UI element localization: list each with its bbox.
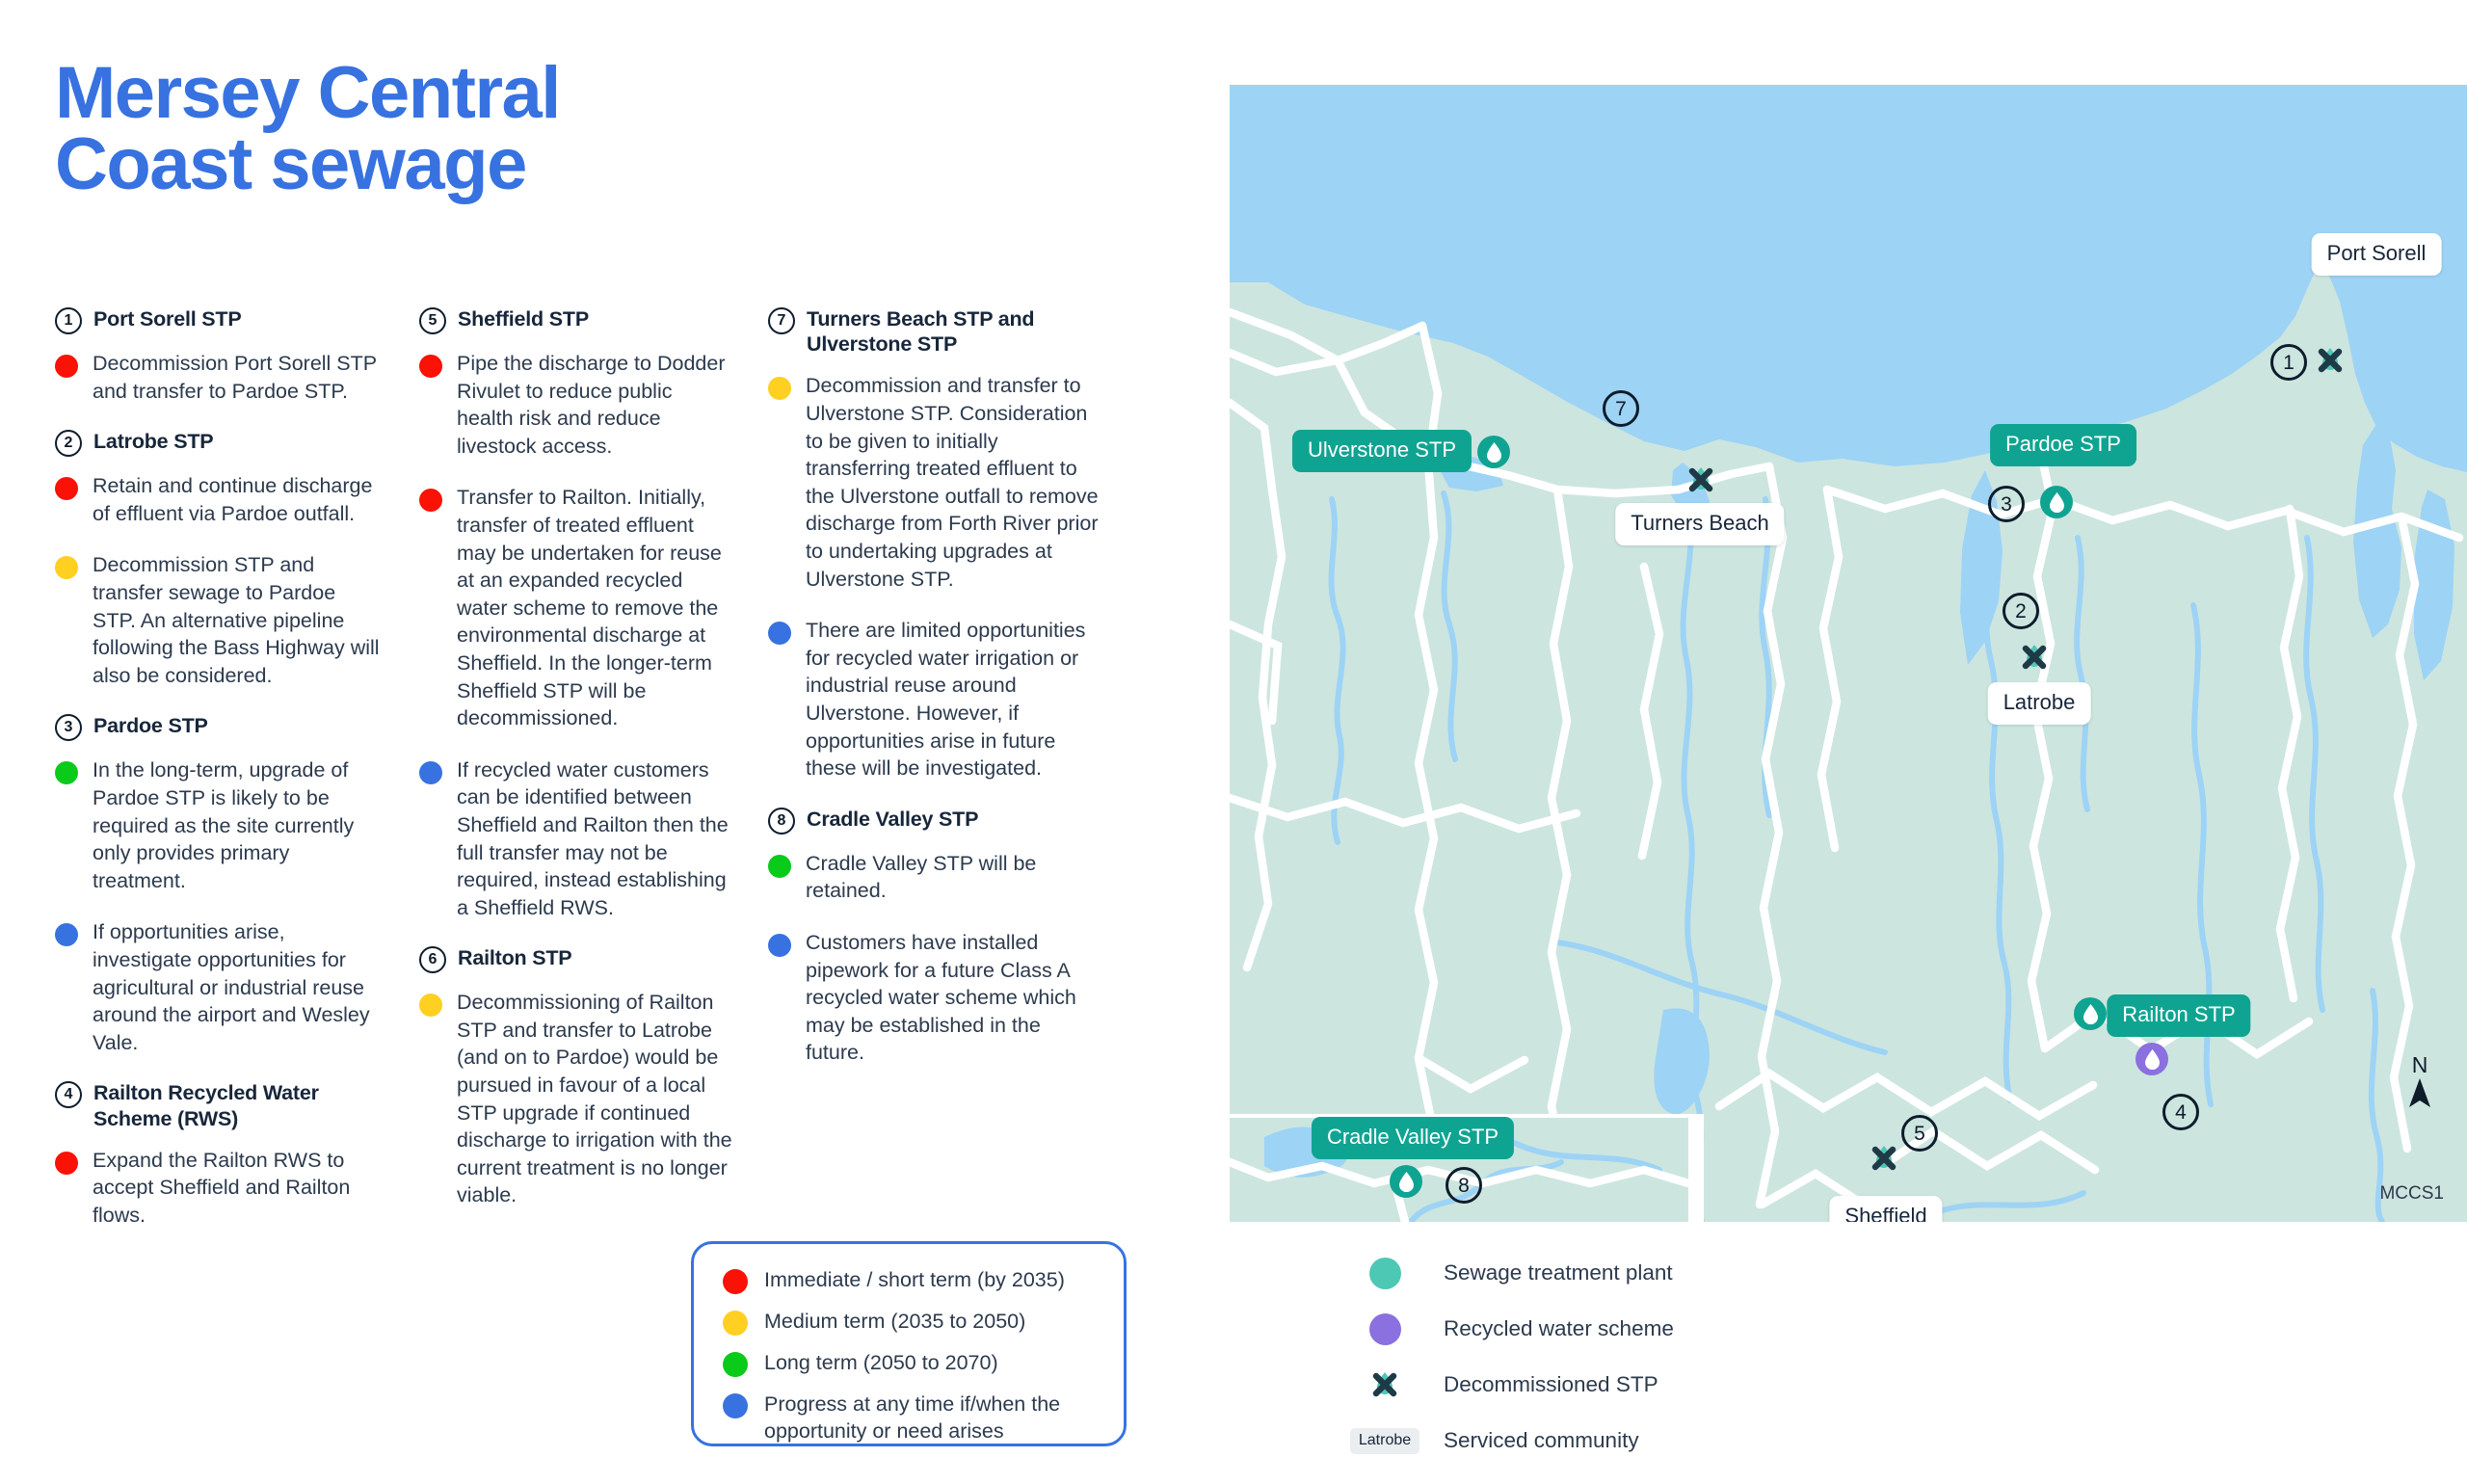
section-number-badge: 2 (55, 430, 82, 457)
recommendation-bullet: Decommission Port Sorell STP and transfe… (55, 350, 383, 405)
section-number-badge: 4 (55, 1081, 82, 1108)
map-label-railton-stp[interactable]: Railton STP (2107, 994, 2250, 1037)
timing-dot-medium (419, 994, 442, 1017)
recommendation-bullet: If recycled water customers can be ident… (419, 756, 732, 922)
timing-legend-label: Long term (2050 to 2070) (764, 1350, 998, 1377)
bullet-text: There are limited opportunities for recy… (806, 617, 1101, 782)
map-legend-row: Recycled water scheme (1363, 1301, 2037, 1357)
section-header: 6Railton STP (419, 945, 732, 973)
section-header: 8Cradle Valley STP (768, 807, 1101, 835)
decommissioned-stp-icon[interactable] (2018, 641, 2051, 674)
bullet-text: Decommission STP and transfer sewage to … (93, 551, 383, 689)
timing-legend-dot-anytime (723, 1393, 748, 1418)
timing-legend-row: Immediate / short term (by 2035) (723, 1267, 1099, 1294)
timing-legend-label: Immediate / short term (by 2035) (764, 1267, 1065, 1294)
timing-dot-anytime (768, 622, 791, 645)
section-header: 2Latrobe STP (55, 429, 383, 457)
map-label-ulverstone-stp[interactable]: Ulverstone STP (1292, 430, 1472, 472)
bullet-text: Retain and continue discharge of effluen… (93, 472, 383, 527)
section-header: 5Sheffield STP (419, 306, 732, 334)
bullet-text: Decommission and transfer to Ulverstone … (806, 372, 1101, 593)
map-legend-label: Decommissioned STP (1444, 1372, 1658, 1397)
map-number-badge-8[interactable]: 8 (1446, 1167, 1482, 1204)
map-number-badge-5[interactable]: 5 (1901, 1115, 1938, 1152)
section-title: Cradle Valley STP (807, 807, 978, 832)
section-number-badge: 6 (419, 946, 446, 973)
section-number-badge: 3 (55, 714, 82, 741)
map-legend: Sewage treatment plantRecycled water sch… (1363, 1245, 2037, 1469)
column-2: 5Sheffield STPPipe the discharge to Dodd… (419, 306, 732, 1233)
info-panel: Mersey CentralCoast sewage 1Port Sorell … (0, 0, 1224, 1484)
map-label-latrobe[interactable]: Latrobe (1988, 682, 2091, 725)
timing-legend-dot-immediate (723, 1269, 748, 1294)
bullet-text: Customers have installed pipework for a … (806, 929, 1101, 1067)
legend-recycled-water-scheme-icon (1363, 1313, 1407, 1345)
map-number-badge-2[interactable]: 2 (2003, 593, 2039, 629)
timing-dot-long (55, 761, 78, 784)
bullet-text: In the long-term, upgrade of Pardoe STP … (93, 756, 383, 894)
recommendation-section-6: 6Railton STPDecommissioning of Railton S… (419, 945, 732, 1209)
timing-dot-immediate (419, 489, 442, 512)
timing-legend: Immediate / short term (by 2035)Medium t… (691, 1241, 1127, 1446)
recommendation-section-7: 7Turners Beach STP and Ulverstone STPDec… (768, 306, 1101, 782)
section-title: Latrobe STP (93, 429, 213, 454)
timing-dot-long (768, 855, 791, 878)
decommissioned-stp-icon[interactable] (2314, 344, 2347, 377)
page-title-line-1: Mersey Central (55, 58, 787, 129)
recommendation-section-1: 1Port Sorell STPDecommission Port Sorell… (55, 306, 383, 405)
bullet-text: Decommissioning of Railton STP and trans… (457, 989, 732, 1209)
map-basemap (1230, 85, 2467, 1222)
sewage-treatment-drop-icon[interactable] (2074, 997, 2107, 1030)
page-title-line-2: Coast sewage (55, 129, 787, 200)
section-title: Port Sorell STP (93, 306, 242, 331)
legend-decommissioned-stp-icon (1363, 1368, 1407, 1401)
bullet-text: Expand the Railton RWS to accept Sheffie… (93, 1147, 383, 1230)
section-header: 4Railton Recycled Water Scheme (RWS) (55, 1080, 383, 1130)
section-header: 1Port Sorell STP (55, 306, 383, 334)
decommissioned-stp-icon[interactable] (1684, 464, 1717, 496)
map-container[interactable]: N MCCS1 Port SorellUlverstone STPTurners… (1230, 85, 2467, 1222)
timing-legend-row: Medium term (2035 to 2050) (723, 1309, 1099, 1336)
section-number-badge: 8 (768, 808, 795, 835)
timing-legend-label: Medium term (2035 to 2050) (764, 1309, 1025, 1336)
section-header: 7Turners Beach STP and Ulverstone STP (768, 306, 1101, 357)
timing-legend-row: Progress at any time if/when the opportu… (723, 1391, 1099, 1445)
section-title: Railton Recycled Water Scheme (RWS) (93, 1080, 383, 1130)
bullet-text: If recycled water customers can be ident… (457, 756, 732, 922)
section-title: Pardoe STP (93, 713, 208, 738)
map-number-badge-7[interactable]: 7 (1603, 390, 1639, 427)
bullet-text: Decommission Port Sorell STP and transfe… (93, 350, 383, 405)
section-header: 3Pardoe STP (55, 713, 383, 741)
recommendation-bullet: Pipe the discharge to Dodder Rivulet to … (419, 350, 732, 460)
section-number-badge: 1 (55, 307, 82, 334)
decommissioned-stp-icon[interactable] (1868, 1142, 1900, 1175)
map-number-badge-3[interactable]: 3 (1988, 486, 2025, 522)
recommendation-section-2: 2Latrobe STPRetain and continue discharg… (55, 429, 383, 689)
legend-sewage-treatment-plant-icon (1363, 1258, 1407, 1289)
recommendation-bullet: Expand the Railton RWS to accept Sheffie… (55, 1147, 383, 1230)
timing-dot-anytime (55, 923, 78, 946)
recommendation-bullet: In the long-term, upgrade of Pardoe STP … (55, 756, 383, 894)
recommendation-bullet: If opportunities arise, investigate oppo… (55, 918, 383, 1056)
recommendation-section-4: 4Railton Recycled Water Scheme (RWS)Expa… (55, 1080, 383, 1229)
map-legend-label: Recycled water scheme (1444, 1316, 1674, 1341)
map-number-badge-1[interactable]: 1 (2270, 344, 2307, 381)
map-label-cradle-valley-stp[interactable]: Cradle Valley STP (1312, 1117, 1514, 1159)
recommendation-bullet: There are limited opportunities for recy… (768, 617, 1101, 782)
recommendation-bullet: Transfer to Railton. Initially, transfer… (419, 484, 732, 731)
section-title: Turners Beach STP and Ulverstone STP (807, 306, 1101, 357)
recommendation-bullet: Decommission and transfer to Ulverstone … (768, 372, 1101, 593)
timing-dot-immediate (55, 355, 78, 378)
map-legend-row: Decommissioned STP (1363, 1357, 2037, 1413)
section-title: Railton STP (458, 945, 571, 970)
map-legend-label: Sewage treatment plant (1444, 1260, 1673, 1285)
timing-dot-immediate (55, 1152, 78, 1175)
legend-serviced-community-pill: Latrobe (1350, 1428, 1419, 1454)
recommendation-bullet: Retain and continue discharge of effluen… (55, 472, 383, 527)
bullet-text: If opportunities arise, investigate oppo… (93, 918, 383, 1056)
map-legend-row: LatrobeServiced community (1363, 1413, 2037, 1469)
timing-dot-medium (55, 556, 78, 579)
bullet-text: Pipe the discharge to Dodder Rivulet to … (457, 350, 732, 460)
bullet-text: Transfer to Railton. Initially, transfer… (457, 484, 732, 731)
recycled-water-drop-icon[interactable] (2135, 1043, 2168, 1075)
bullet-text: Cradle Valley STP will be retained. (806, 850, 1101, 905)
section-title: Sheffield STP (458, 306, 589, 331)
map-number-badge-4[interactable]: 4 (2162, 1094, 2199, 1130)
timing-dot-anytime (768, 934, 791, 957)
legend-serviced-community-icon: Latrobe (1363, 1428, 1407, 1454)
sewage-treatment-drop-icon[interactable] (1477, 436, 1510, 468)
page-title: Mersey CentralCoast sewage (55, 58, 787, 201)
recommendation-section-8: 8Cradle Valley STPCradle Valley STP will… (768, 807, 1101, 1067)
map-label-turners-beach[interactable]: Turners Beach (1615, 503, 1784, 545)
map-label-port-sorell[interactable]: Port Sorell (2312, 233, 2442, 276)
map-label-pardoe-stp[interactable]: Pardoe STP (1990, 424, 2136, 466)
section-number-badge: 5 (419, 307, 446, 334)
section-number-badge: 7 (768, 307, 795, 334)
column-3: 7Turners Beach STP and Ulverstone STPDec… (768, 306, 1101, 1091)
timing-legend-label: Progress at any time if/when the opportu… (764, 1391, 1099, 1445)
recommendation-bullet: Decommission STP and transfer sewage to … (55, 551, 383, 689)
column-1: 1Port Sorell STPDecommission Port Sorell… (55, 306, 383, 1254)
sewage-treatment-drop-icon[interactable] (1390, 1165, 1422, 1198)
recommendation-section-5: 5Sheffield STPPipe the discharge to Dodd… (419, 306, 732, 921)
recommendation-bullet: Cradle Valley STP will be retained. (768, 850, 1101, 905)
recommendation-bullet: Customers have installed pipework for a … (768, 929, 1101, 1067)
compass: N (2407, 1054, 2432, 1114)
timing-dot-anytime (419, 761, 442, 784)
timing-dot-immediate (55, 477, 78, 500)
recommendation-bullet: Decommissioning of Railton STP and trans… (419, 989, 732, 1209)
timing-dot-immediate (419, 355, 442, 378)
map-label-sheffield[interactable]: Sheffield (1829, 1196, 1942, 1222)
map-legend-row: Sewage treatment plant (1363, 1245, 2037, 1301)
timing-legend-row: Long term (2050 to 2070) (723, 1350, 1099, 1377)
compass-north-label: N (2407, 1054, 2432, 1076)
sewage-treatment-drop-icon[interactable] (2040, 486, 2073, 518)
timing-legend-dot-long (723, 1352, 748, 1377)
compass-arrow-icon (2407, 1076, 2432, 1109)
timing-legend-dot-medium (723, 1311, 748, 1336)
map-legend-label: Serviced community (1444, 1428, 1639, 1453)
timing-dot-medium (768, 377, 791, 400)
recommendation-section-3: 3Pardoe STPIn the long-term, upgrade of … (55, 713, 383, 1056)
map-reference-code: MCCS1 (2379, 1183, 2444, 1205)
